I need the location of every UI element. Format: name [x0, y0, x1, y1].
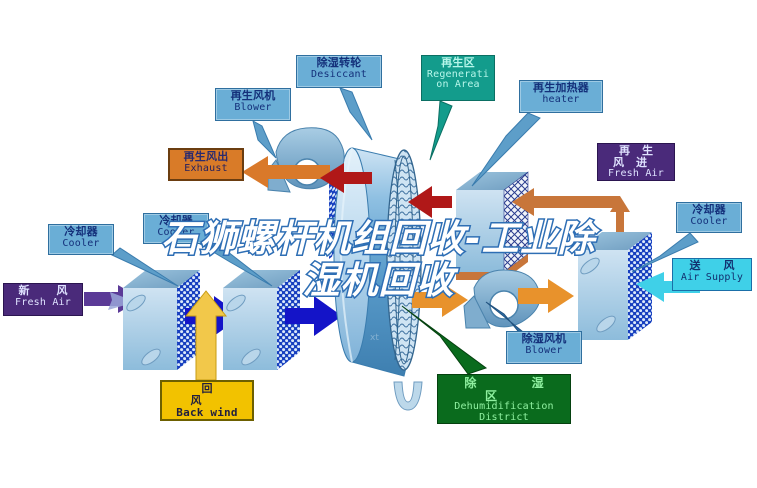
- heater-coil: [456, 172, 528, 280]
- label-dehumid-blower-en: Blower: [507, 346, 581, 357]
- svg-text:xt: xt: [370, 333, 379, 343]
- label-dehumid-district-cn: 除 湿 区: [438, 377, 570, 402]
- label-back-wind: 回 风Back wind: [160, 380, 254, 421]
- label-regen-blower-cn: 再生风机: [216, 91, 290, 103]
- label-regen-heater-cn: 再生加热器: [520, 83, 602, 95]
- label-regen-fresh-air: 再生风进Fresh Air: [597, 143, 675, 181]
- label-regen-blower-en: Blower: [216, 103, 290, 114]
- label-air-supply-cn: 送 风: [673, 261, 751, 273]
- diagram-canvas: xt: [0, 0, 757, 488]
- label-regen-heater-en: heater: [520, 95, 602, 106]
- label-regen-fresh-air-cn: 再生风进: [598, 146, 674, 169]
- label-cooler-right-en: Cooler: [677, 217, 741, 228]
- label-cooler-left-far: 冷却器Cooler: [48, 224, 114, 255]
- label-cooler-left-near: 冷却器Cooler: [143, 213, 209, 244]
- label-air-supply: 送 风Air Supply: [672, 258, 752, 291]
- label-regen-exhaust: 再生风出Exhaust: [168, 148, 244, 181]
- label-regeneration-area-cn: 再生区: [422, 58, 494, 70]
- label-regen-exhaust-cn: 再生风出: [170, 152, 242, 164]
- fresh-air-to-heater: [512, 188, 620, 216]
- label-cooler-left-far-en: Cooler: [49, 239, 113, 250]
- label-desiccant-rotor-cn: 除湿转轮: [297, 58, 381, 70]
- label-dehumid-district: 除 湿 区Dehumidification District: [437, 374, 571, 424]
- label-desiccant-rotor: 除湿转轮Desiccant: [296, 55, 382, 88]
- desiccant-wheel: xt: [334, 148, 422, 410]
- label-regeneration-area-en: Regenerati on Area: [422, 70, 494, 91]
- label-fresh-air-in-cn: 新 风: [4, 286, 82, 298]
- label-regen-heater: 再生加热器heater: [519, 80, 603, 113]
- label-regen-exhaust-en: Exhaust: [170, 164, 242, 175]
- label-desiccant-rotor-en: Desiccant: [297, 70, 381, 81]
- label-dehumid-blower: 除湿风机Blower: [506, 331, 582, 364]
- label-cooler-left-far-cn: 冷却器: [49, 227, 113, 239]
- label-fresh-air-in-en: Fresh Air: [4, 298, 82, 309]
- label-cooler-left-near-cn: 冷却器: [144, 216, 208, 228]
- label-cooler-left-near-en: Cooler: [144, 228, 208, 239]
- label-dehumid-blower-cn: 除湿风机: [507, 334, 581, 346]
- label-back-wind-en: Back wind: [162, 407, 252, 419]
- label-regeneration-area: 再生区Regenerati on Area: [421, 55, 495, 101]
- label-fresh-air-in: 新 风Fresh Air: [3, 283, 83, 316]
- label-air-supply-en: Air Supply: [673, 273, 751, 284]
- label-back-wind-cn: 回 风: [162, 384, 252, 407]
- label-regen-blower: 再生风机Blower: [215, 88, 291, 121]
- label-regen-fresh-air-en: Fresh Air: [598, 169, 674, 180]
- label-dehumid-district-en: Dehumidification District: [438, 402, 570, 423]
- label-cooler-right-cn: 冷却器: [677, 205, 741, 217]
- label-cooler-right: 冷却器Cooler: [676, 202, 742, 233]
